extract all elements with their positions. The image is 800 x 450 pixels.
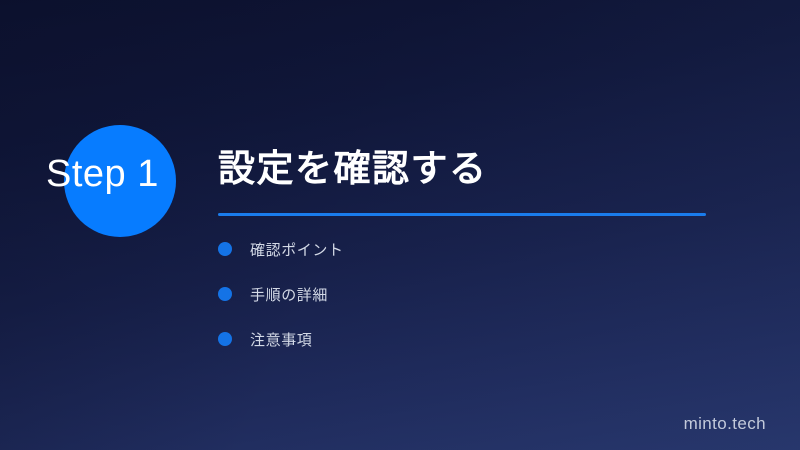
list-item-label: 手順の詳細 [250, 284, 328, 305]
list-item-label: 確認ポイント [250, 239, 344, 260]
list-item: 確認ポイント [218, 236, 344, 262]
bullet-list: 確認ポイント 手順の詳細 注意事項 [218, 236, 344, 371]
slide-canvas: Step 1 設定を確認する 確認ポイント 手順の詳細 注意事項 minto.t… [0, 0, 800, 450]
watermark-label: minto.tech [684, 414, 766, 434]
list-item: 注意事項 [218, 326, 344, 352]
slide-title: 設定を確認する [218, 146, 488, 192]
bullet-dot-icon [218, 242, 232, 256]
list-item-label: 注意事項 [250, 329, 312, 350]
step-badge-label: Step 1 [46, 151, 216, 197]
list-item: 手順の詳細 [218, 281, 344, 307]
bullet-dot-icon [218, 332, 232, 346]
bullet-dot-icon [218, 287, 232, 301]
slide-content: Step 1 設定を確認する 確認ポイント 手順の詳細 注意事項 minto.t… [0, 0, 800, 450]
title-divider [218, 213, 706, 216]
